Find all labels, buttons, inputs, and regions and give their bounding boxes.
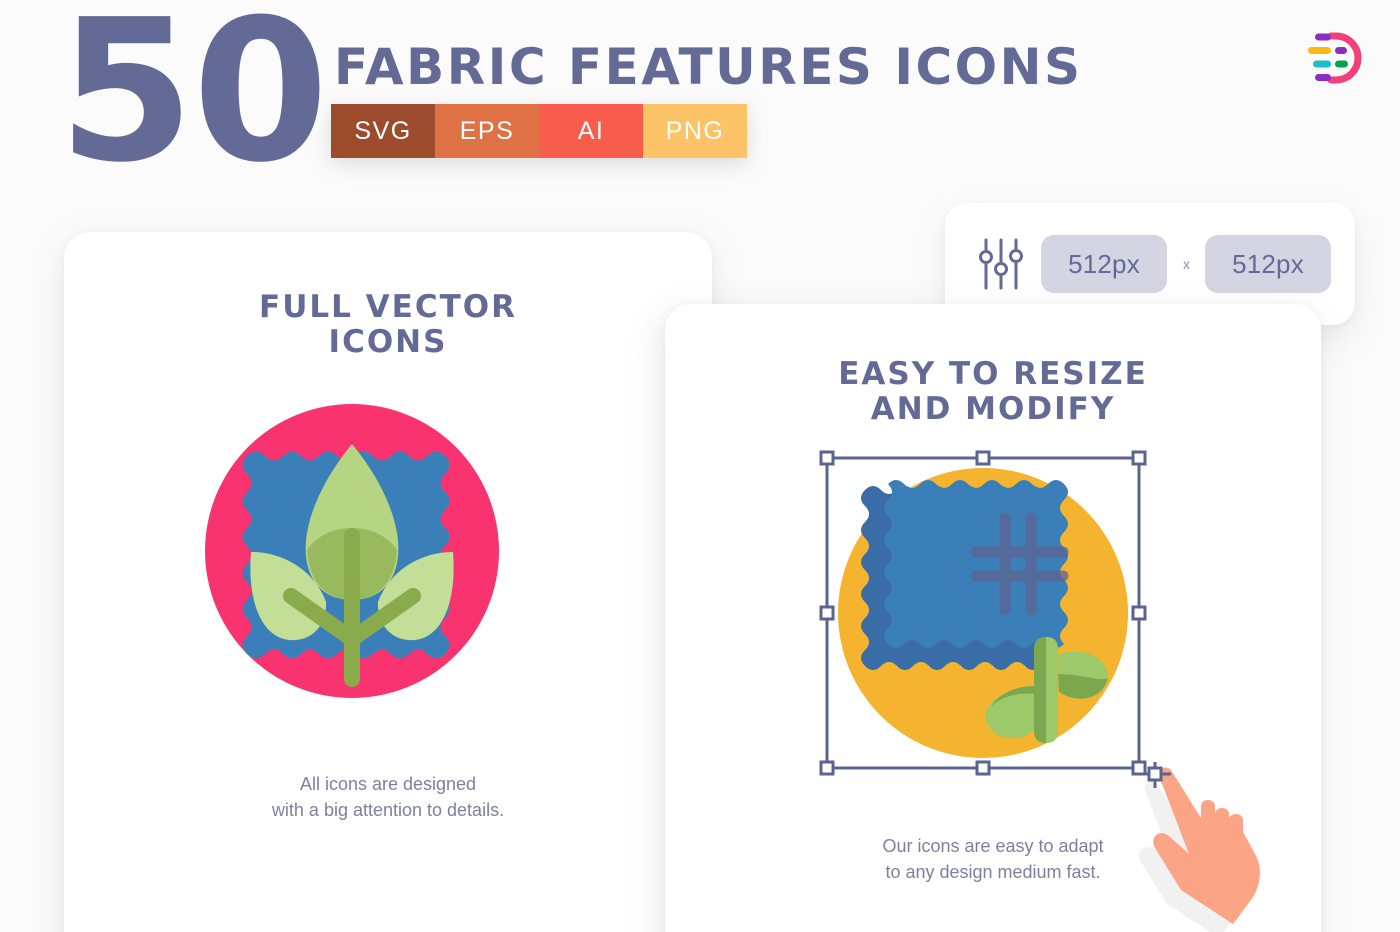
card-title-right: EASY TO RESIZE AND MODIFY	[665, 357, 1321, 426]
fabric-grid-sprig-icon	[813, 442, 1153, 784]
format-chip-eps[interactable]: EPS	[435, 104, 539, 158]
card-caption-right: Our icons are easy to adapt to any desig…	[665, 834, 1321, 885]
card-title-right-line1: EASY TO RESIZE	[838, 356, 1148, 392]
card-caption-left: All icons are designed with a big attent…	[64, 772, 712, 823]
card-title-left: FULL VECTOR ICONS	[64, 290, 712, 359]
card-title-left-line1: FULL VECTOR	[259, 289, 517, 325]
size-separator: x	[1183, 256, 1190, 272]
sliders-icon	[978, 236, 1024, 292]
card-caption-right-line2: to any design medium fast.	[885, 862, 1100, 882]
card-caption-left-line1: All icons are designed	[300, 774, 476, 794]
icon-count-number: 50	[58, 0, 327, 190]
card-caption-left-line2: with a big attention to details.	[272, 800, 504, 820]
page-title: FABRIC FEATURES ICONS	[334, 42, 1083, 92]
format-chip-png[interactable]: PNG	[643, 104, 747, 158]
height-field[interactable]: 512px	[1205, 235, 1331, 293]
fabric-leaf-icon	[205, 404, 499, 698]
card-caption-right-line1: Our icons are easy to adapt	[882, 836, 1103, 856]
card-easy-to-resize: EASY TO RESIZE AND MODIFY	[665, 304, 1321, 932]
card-title-right-line2: AND MODIFY	[871, 391, 1116, 427]
file-format-bar: SVG EPS AI PNG	[331, 104, 747, 158]
brand-d-logo	[1302, 30, 1364, 86]
format-chip-ai[interactable]: AI	[539, 104, 643, 158]
format-chip-svg[interactable]: SVG	[331, 104, 435, 158]
card-full-vector-icons: FULL VECTOR ICONS	[64, 232, 712, 932]
card-title-left-line2: ICONS	[329, 324, 448, 360]
poster-canvas: 50 FABRIC FEATURES ICONS SVG EPS AI PNG	[0, 0, 1400, 932]
width-field[interactable]: 512px	[1041, 235, 1167, 293]
